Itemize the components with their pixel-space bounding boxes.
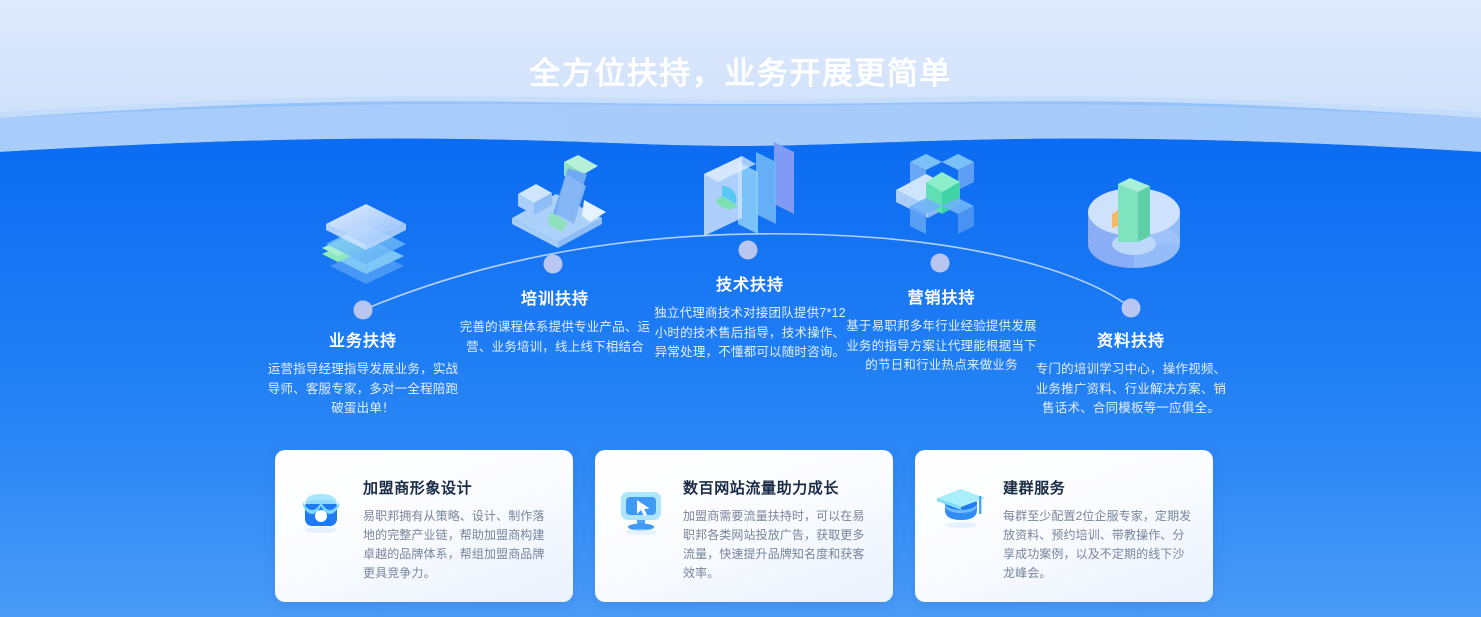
- storefront-icon: [293, 480, 349, 536]
- timeline-node-5: [1122, 299, 1141, 318]
- support-title: 培训扶持: [455, 285, 655, 309]
- support-item-materials[interactable]: 资料扶持 专门的培训学习中心，操作视频、业务推广资料、行业解决方案、销售话术、合…: [1030, 327, 1232, 419]
- feature-card-list: 加盟商形象设计 易职邦拥有从策略、设计、制作落地的完整产业链，帮助加盟商构建卓越…: [275, 450, 1213, 602]
- support-desc: 专门的培训学习中心，操作视频、业务推广资料、行业解决方案、销售话术、合同模板等一…: [1030, 360, 1232, 419]
- stacked-layers-icon: [300, 180, 430, 290]
- support-item-training[interactable]: 培训扶持 完善的课程体系提供专业产品、运营、业务培训，线上线下相结合: [455, 285, 655, 357]
- graduation-cap-icon: [933, 480, 989, 536]
- support-title: 资料扶持: [1030, 327, 1232, 351]
- monitor-cursor-icon: [613, 480, 669, 536]
- pencil-design-icon: [490, 136, 620, 261]
- support-item-business[interactable]: 业务扶持 运营指导经理指导发展业务，实战导师、客服专家，多对一全程陪跑破蛋出单！: [263, 327, 463, 419]
- support-title: 技术扶持: [650, 271, 850, 295]
- support-title: 营销扶持: [840, 284, 1043, 308]
- layered-panels-chart-icon: [686, 134, 811, 254]
- feature-card-group-service[interactable]: 建群服务 每群至少配置2位企服专家，定期发放资料、预约培训、带教操作、分享成功案…: [915, 450, 1213, 602]
- card-desc: 加盟商需要流量扶持时，可以在易职邦各类网站投放广告，获取更多流量，快速提升品牌知…: [683, 507, 873, 583]
- support-desc: 基于易职邦多年行业经验提供发展业务的指导方案让代理能根据当下的节日和行业热点来做…: [840, 317, 1043, 376]
- support-desc: 完善的课程体系提供专业产品、运营、业务培训，线上线下相结合: [455, 318, 655, 357]
- cylinder-data-icon: [1072, 166, 1197, 286]
- card-title: 数百网站流量助力成长: [683, 477, 873, 498]
- support-item-technology[interactable]: 技术扶持 独立代理商技术对接团队提供7*12小时的技术售后指导，技术操作、异常处…: [650, 271, 850, 363]
- support-item-marketing[interactable]: 营销扶持 基于易职邦多年行业经验提供发展业务的指导方案让代理能根据当下的节日和行…: [840, 284, 1043, 376]
- feature-card-traffic-growth[interactable]: 数百网站流量助力成长 加盟商需要流量扶持时，可以在易职邦各类网站投放广告，获取更…: [595, 450, 893, 602]
- support-desc: 运营指导经理指导发展业务，实战导师、客服专家，多对一全程陪跑破蛋出单！: [263, 360, 463, 419]
- feature-card-brand-design[interactable]: 加盟商形象设计 易职邦拥有从策略、设计、制作落地的完整产业链，帮助加盟商构建卓越…: [275, 450, 573, 602]
- support-title: 业务扶持: [263, 327, 463, 351]
- card-desc: 每群至少配置2位企服专家，定期发放资料、预约培训、带教操作、分享成功案例，以及不…: [1003, 507, 1193, 583]
- timeline-node-1: [354, 301, 373, 320]
- card-title: 建群服务: [1003, 477, 1193, 498]
- card-title: 加盟商形象设计: [363, 477, 553, 498]
- support-desc: 独立代理商技术对接团队提供7*12小时的技术售后指导，技术操作、异常处理，不懂都…: [650, 304, 850, 363]
- open-box-cube-icon: [880, 140, 1005, 260]
- card-desc: 易职邦拥有从策略、设计、制作落地的完整产业链，帮助加盟商构建卓越的品牌体系，帮组…: [363, 507, 553, 583]
